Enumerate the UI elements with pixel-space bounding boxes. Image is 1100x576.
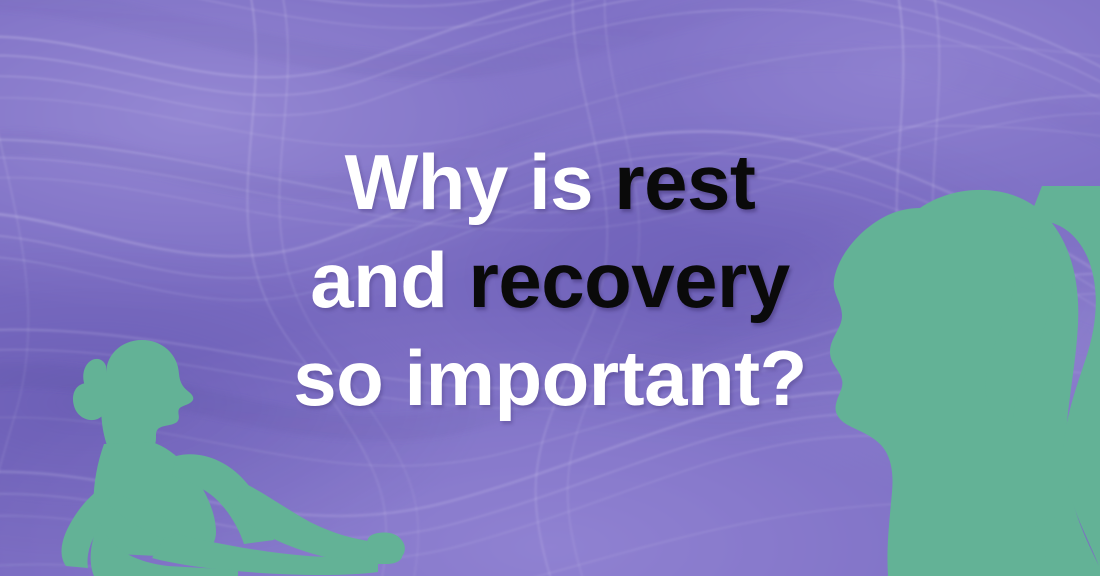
headline-line-2: and recovery [0,241,1100,319]
headline-line-1: Why is rest [0,143,1100,221]
headline-word-why-is: Why is [345,138,615,226]
headline-word-and: and [310,236,468,324]
headline-word-rest: rest [614,138,755,226]
headline-word-so-important: so important? [293,334,807,422]
headline-line-3: so important? [0,339,1100,417]
promo-banner: Why is rest and recovery so important? [0,0,1100,576]
headline-word-recovery: recovery [469,236,790,324]
headline: Why is rest and recovery so important? [0,143,1100,417]
